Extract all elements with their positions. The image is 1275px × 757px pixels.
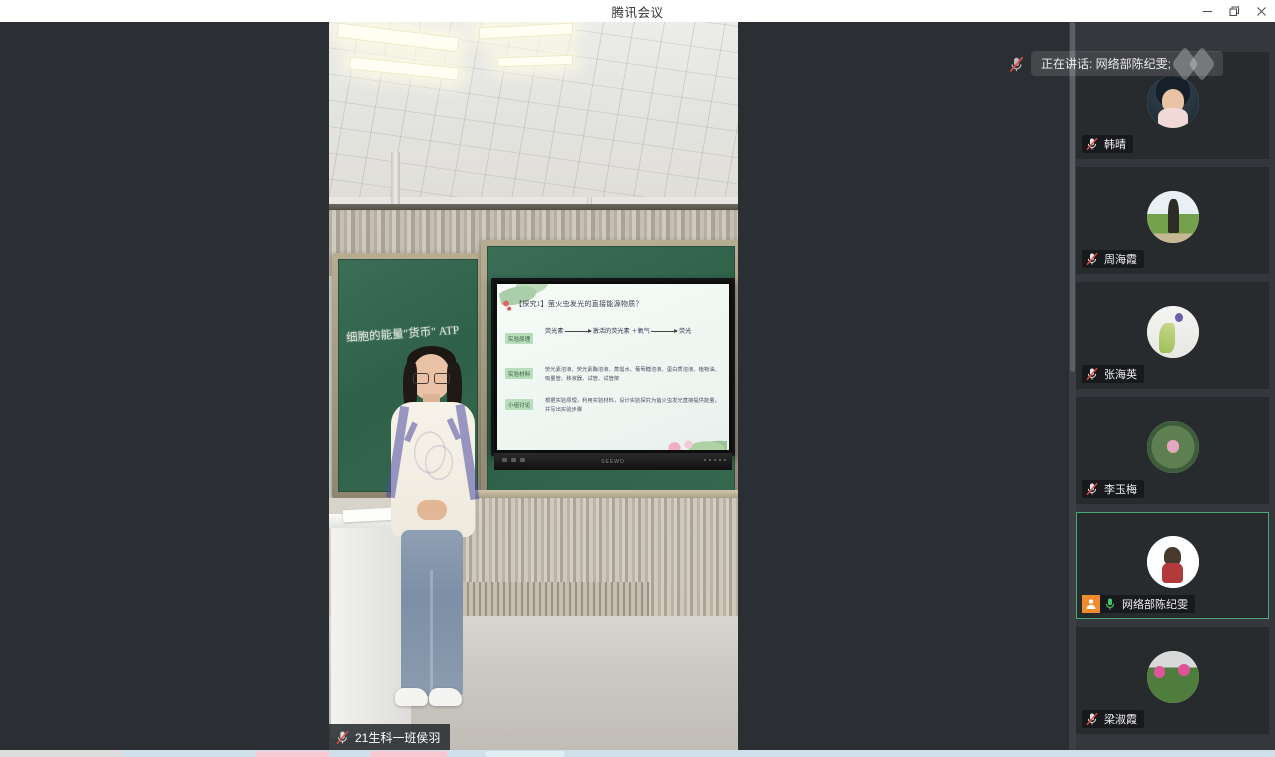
participant-name: 梁淑霞 <box>1101 711 1144 727</box>
host-badge-icon <box>1082 595 1100 613</box>
speaking-label: 正在讲话: 网络部陈纪雯; <box>1041 55 1171 72</box>
mic-muted-icon <box>1082 480 1101 498</box>
glasses-icon <box>413 373 450 382</box>
slide-tag-principle: 实验原理 <box>505 333 533 344</box>
flower-decoration-icon <box>663 431 727 450</box>
main-speaker-name: 21生科一班侯羽 <box>355 729 440 746</box>
participant-tile[interactable]: 梁淑霞 <box>1076 627 1269 734</box>
mic-muted-icon <box>336 730 349 745</box>
equation-middle: 激活的荧光素 <box>593 328 630 335</box>
participants-sidebar: 韩晴 <box>1069 22 1275 750</box>
participant-name: 张海英 <box>1101 366 1144 382</box>
reaction-arrow-icon <box>651 331 677 332</box>
participant-name: 网络部陈纪雯 <box>1119 596 1195 612</box>
bezel-indicator-lights <box>704 459 726 461</box>
participant-tile[interactable]: 李玉梅 <box>1076 397 1269 504</box>
taskbar-item[interactable] <box>485 751 565 757</box>
equation-product: 荧光 <box>679 328 691 335</box>
shoe <box>429 688 462 706</box>
slide-tag-materials: 实验材料 <box>505 368 533 379</box>
taskbar-left-section <box>0 750 122 757</box>
main-speaker-name-badge: 21生科一班侯羽 <box>329 724 450 750</box>
equation-reactant: 荧光素 <box>545 328 564 335</box>
participant-name: 韩晴 <box>1101 136 1133 152</box>
participant-label: 周海霞 <box>1082 250 1144 268</box>
reaction-arrow-icon <box>565 331 591 332</box>
slide-title: 【探究1】萤火虫发光的直接能源物质？ <box>515 299 643 309</box>
screen-bezel: SEEWO <box>494 453 732 470</box>
slide-discussion-text: 根据实验原理，利用实验材料，设计实验探究为萤火虫发光直接提供能量，并写出实验步骤 <box>545 397 720 416</box>
avatar <box>1147 76 1199 128</box>
blackboard-right: 【探究1】萤火虫发光的直接能源物质？ 实验原理 实验材料 小组讨论 荧光素 激活… <box>481 240 738 510</box>
window-title: 腾讯会议 <box>611 2 663 21</box>
participant-label: 韩晴 <box>1082 135 1133 153</box>
classroom-scene: 细胞的能量"货币" ATP 【探究1】萤火虫发光的直接能源物质？ 实验原理 实验… <box>329 22 738 750</box>
participant-name: 周海霞 <box>1101 251 1144 267</box>
mic-muted-icon <box>1009 56 1024 73</box>
participant-label: 梁淑霞 <box>1082 710 1144 728</box>
participant-tile-list: 韩晴 <box>1076 52 1275 742</box>
avatar <box>1147 306 1199 358</box>
minimize-button[interactable] <box>1194 0 1221 22</box>
smart-screen: 【探究1】萤火虫发光的直接能源物质？ 实验原理 实验材料 小组讨论 荧光素 激活… <box>491 278 735 456</box>
mic-muted-icon <box>1082 710 1101 728</box>
participant-label: 李玉梅 <box>1082 480 1144 498</box>
mic-muted-icon <box>1082 250 1101 268</box>
presentation-slide: 【探究1】萤火虫发光的直接能源物质？ 实验原理 实验材料 小组讨论 荧光素 激活… <box>497 284 729 450</box>
mic-active-icon <box>1100 595 1119 613</box>
slide-equation: 荧光素 激活的荧光素 ＋氧气 荧光 <box>545 326 691 335</box>
teacher-figure <box>377 344 493 750</box>
avatar <box>1147 421 1199 473</box>
slide-tag-discussion: 小组讨论 <box>505 399 533 410</box>
audio-wave-icon <box>1180 53 1213 75</box>
tencent-meeting-window: 腾讯会议 <box>0 0 1275 757</box>
taskbar-item[interactable] <box>255 751 330 757</box>
slide-materials-text: 荧光素溶液、荧光素酶溶液、蒸馏水、葡萄糖溶液、蛋白质溶液、植物油、吸量管、移液器… <box>545 366 720 385</box>
avatar <box>1147 651 1199 703</box>
main-speaker-video[interactable]: 细胞的能量"货币" ATP 【探究1】萤火虫发光的直接能源物质？ 实验原理 实验… <box>329 22 738 750</box>
meeting-stage: 细胞的能量"货币" ATP 【探究1】萤火虫发光的直接能源物质？ 实验原理 实验… <box>0 22 1275 750</box>
restore-button[interactable] <box>1221 0 1248 22</box>
avatar <box>1147 191 1199 243</box>
berry-decoration-icon <box>503 300 513 314</box>
desktop-taskbar[interactable] <box>0 750 1275 757</box>
close-button[interactable] <box>1248 0 1275 22</box>
participant-name: 李玉梅 <box>1101 481 1144 497</box>
hands <box>417 500 447 520</box>
participant-label: 张海英 <box>1082 365 1144 383</box>
jeans <box>401 530 463 696</box>
mic-muted-icon <box>1082 135 1101 153</box>
mic-muted-icon <box>1082 365 1101 383</box>
sidebar-scrollbar[interactable] <box>1069 22 1076 750</box>
avatar <box>1147 536 1199 588</box>
screen-brand-logo: SEEWO <box>601 459 625 465</box>
speaking-banner: 正在讲话: 网络部陈纪雯; <box>1031 51 1223 76</box>
participant-tile-active-speaker[interactable]: 网络部陈纪雯 <box>1076 512 1269 619</box>
title-bar: 腾讯会议 <box>0 0 1275 23</box>
taskbar-item[interactable] <box>370 751 448 757</box>
equation-plus: ＋氧气 <box>631 328 650 335</box>
bezel-buttons <box>502 458 525 462</box>
shoe <box>395 688 428 706</box>
participant-tile[interactable]: 周海霞 <box>1076 167 1269 274</box>
participant-label: 网络部陈纪雯 <box>1082 595 1195 613</box>
window-controls <box>1194 0 1275 22</box>
participant-tile[interactable]: 张海英 <box>1076 282 1269 389</box>
